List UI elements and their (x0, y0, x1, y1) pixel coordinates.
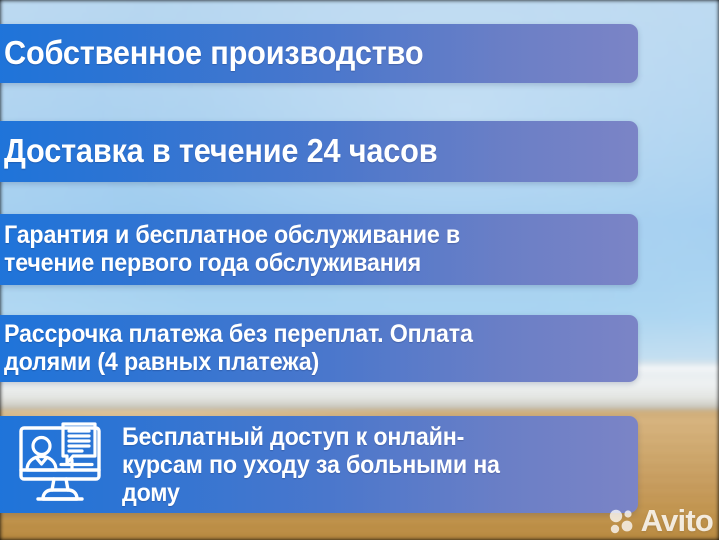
feature-banner-text: Собственное производство (4, 36, 423, 71)
avito-wordmark: Avito (641, 505, 713, 536)
feature-banner-delivery-24h: Доставка в течение 24 часов (0, 121, 638, 182)
feature-banner-own-production: Собственное производство (0, 24, 638, 83)
feature-banner-free-online-courses: Бесплатный доступ к онлайн- курсам по ух… (0, 416, 638, 513)
promo-image: Собственное производство Доставка в тече… (0, 0, 719, 540)
feature-banner-text: Доставка в течение 24 часов (4, 134, 437, 169)
avito-dots-icon (608, 507, 636, 535)
feature-banner-installment-payment: Рассрочка платежа без переплат. Оплата д… (0, 315, 638, 382)
online-course-monitor-icon (16, 422, 112, 508)
feature-banner-list: Собственное производство Доставка в тече… (0, 0, 719, 540)
feature-banner-text: Гарантия и бесплатное обслуживание в теч… (4, 222, 460, 277)
feature-banner-text: Бесплатный доступ к онлайн- курсам по ух… (122, 423, 500, 507)
feature-banner-text: Рассрочка платежа без переплат. Оплата д… (4, 321, 473, 376)
avito-watermark: Avito (608, 505, 713, 536)
feature-banner-warranty-free-service: Гарантия и бесплатное обслуживание в теч… (0, 214, 638, 285)
